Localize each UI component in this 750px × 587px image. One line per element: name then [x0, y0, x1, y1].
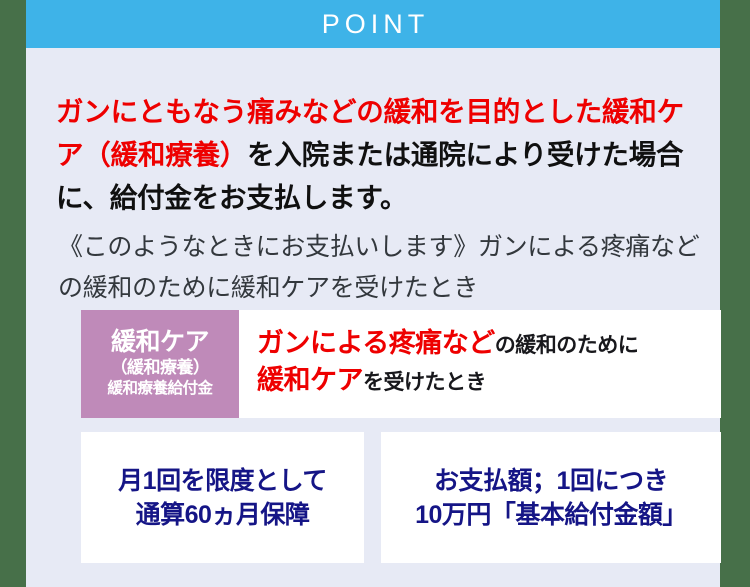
subnote-paragraph: 《このようなときにお支払いします》ガンによる疼痛などの緩和のために緩和ケアを受け… [58, 227, 713, 309]
benefit-tag-box: 緩和ケア （緩和療養） 緩和療養給付金 [81, 310, 239, 418]
benefit-description-line-2: 緩和ケアを受けたとき [257, 364, 721, 401]
point-panel-screen: POINT ガンにともなう痛みなどの緩和を目的とした緩和ケア（緩和療養）を入院ま… [0, 0, 750, 587]
point-header-title: POINT [317, 11, 430, 38]
benefit-tag-line2: （緩和療養） [111, 357, 210, 379]
info-box-row: 月1回を限度として 通算60ヵ月保障 お支払額；1回につき 10万円「基本給付金… [81, 432, 721, 563]
point-header: POINT [26, 0, 720, 48]
benefit-tag-line1: 緩和ケア [111, 328, 209, 357]
benefit-desc-line1-emphasis: ガンによる疼痛など [257, 328, 495, 358]
info-box-payment-line2: 10万円「基本給付金額」 [415, 498, 687, 532]
info-box-limit-line1: 月1回を限度として [118, 464, 327, 498]
info-box-limit-line2: 通算60ヵ月保障 [136, 498, 310, 532]
benefit-desc-line2-emphasis: 緩和ケア [257, 365, 363, 395]
benefit-description-box: ガンによる疼痛などの緩和のために 緩和ケアを受けたとき [239, 310, 721, 418]
benefit-row: 緩和ケア （緩和療養） 緩和療養給付金 ガンによる疼痛などの緩和のために 緩和ケ… [81, 310, 721, 418]
benefit-desc-line1-normal: の緩和のために [495, 334, 639, 357]
lead-paragraph: ガンにともなう痛みなどの緩和を目的とした緩和ケア（緩和療養）を入院または通院によ… [56, 90, 706, 219]
content-panel: POINT ガンにともなう痛みなどの緩和を目的とした緩和ケア（緩和療養）を入院ま… [26, 0, 720, 587]
info-box-payment-line1: お支払額；1回につき [434, 464, 668, 498]
info-box-payment: お支払額；1回につき 10万円「基本給付金額」 [381, 432, 721, 563]
info-box-limit: 月1回を限度として 通算60ヵ月保障 [81, 432, 364, 563]
benefit-desc-line2-normal: を受けたとき [363, 371, 486, 394]
benefit-tag-line3: 緩和療養給付金 [107, 379, 212, 399]
benefit-description-line-1: ガンによる疼痛などの緩和のために [257, 327, 721, 364]
